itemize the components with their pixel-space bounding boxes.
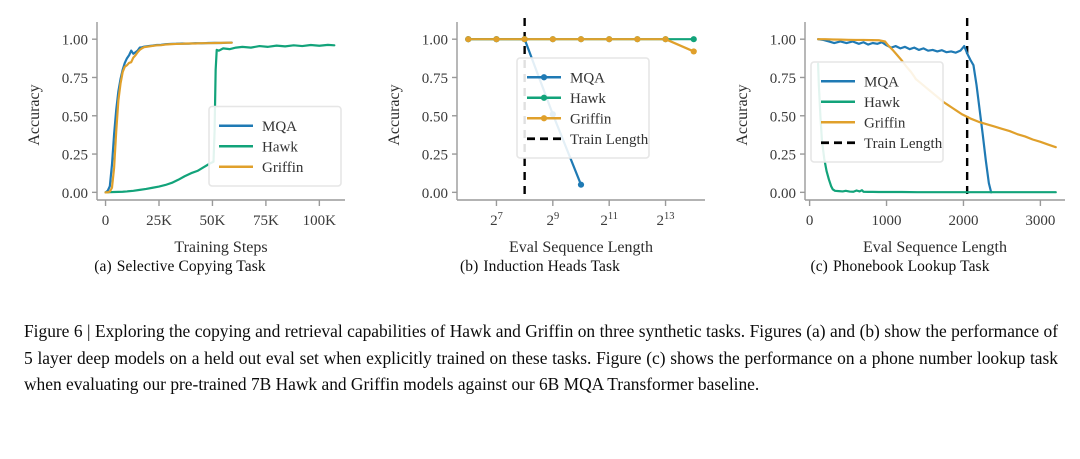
x-tick-label: 50K (200, 213, 226, 229)
legend: MQAHawkGriffinTrain Length (811, 62, 943, 162)
y-tick-label: 0.00 (422, 186, 448, 202)
subcaption-c-label: (c) (810, 258, 828, 275)
y-tick-label: 0.00 (62, 186, 88, 202)
legend-label-hawk: Hawk (262, 139, 298, 155)
y-tick-label: 1.00 (62, 33, 88, 49)
x-tick-label: 1000 (872, 213, 902, 229)
x-axis-title: Eval Sequence Length (863, 239, 1007, 256)
x-tick-label: 213 (657, 211, 675, 229)
x-tick-label: 2000 (948, 213, 978, 229)
chart-c-canvas: 0.000.250.500.751.000100020003000Eval Se… (720, 0, 1080, 258)
legend-label-griffin: Griffin (864, 115, 906, 131)
x-tick-label: 100K (303, 213, 337, 229)
legend-marker-griffin (541, 115, 547, 121)
figure-number: Figure 6 (24, 321, 83, 341)
chart-b-canvas: 0.000.250.500.751.002729211213Eval Seque… (360, 0, 720, 258)
x-axis-title: Training Steps (174, 239, 267, 256)
y-axis-title: Accuracy (26, 84, 43, 145)
y-axis-title: Accuracy (734, 84, 751, 145)
panel-b-induction-heads: 0.000.250.500.751.002729211213Eval Seque… (360, 0, 720, 300)
x-tick-label: 29 (546, 211, 559, 229)
legend-marker-mqa (541, 74, 547, 80)
series-marker-mqa (578, 182, 584, 188)
legend-label-mqa: MQA (262, 119, 297, 135)
y-tick-label: 1.00 (770, 33, 796, 49)
y-tick-label: 0.75 (62, 71, 88, 87)
y-tick-label: 1.00 (422, 33, 448, 49)
series-marker-griffin (522, 36, 528, 42)
x-tick-label: 27 (490, 211, 503, 229)
panel-c-phonebook-lookup: 0.000.250.500.751.000100020003000Eval Se… (720, 0, 1080, 300)
y-tick-label: 0.25 (62, 148, 88, 164)
x-tick-label: 3000 (1025, 213, 1055, 229)
y-tick-label: 0.75 (770, 71, 796, 87)
series-marker-griffin (662, 36, 668, 42)
legend-label-mqa: MQA (570, 70, 605, 86)
y-tick-label: 0.50 (422, 109, 448, 125)
legend-label-hawk: Hawk (570, 91, 606, 107)
subcaption-a: (a)Selective Copying Task (0, 258, 360, 276)
legend-label-mqa: MQA (864, 74, 899, 90)
series-marker-griffin (634, 36, 640, 42)
series-marker-griffin (691, 48, 697, 54)
legend: MQAHawkGriffin (209, 107, 341, 187)
chart-induction-heads: 0.000.250.500.751.002729211213Eval Seque… (360, 0, 720, 258)
y-axis-title: Accuracy (386, 84, 403, 145)
x-axis-title: Eval Sequence Length (509, 239, 653, 256)
subcaption-a-label: (a) (94, 258, 112, 275)
y-tick-label: 0.50 (770, 109, 796, 125)
legend-marker-hawk (541, 95, 547, 101)
legend-label-griffin: Griffin (262, 160, 304, 176)
legend-label-griffin: Griffin (570, 111, 612, 127)
chart-selective-copying: 0.000.250.500.751.00025K50K75K100KTraini… (0, 0, 360, 258)
series-marker-griffin (465, 36, 471, 42)
legend-label-train-length: Train Length (864, 136, 943, 152)
figure-caption-separator: | (87, 321, 90, 341)
y-tick-label: 0.00 (770, 186, 796, 202)
series-marker-griffin (550, 36, 556, 42)
figure-caption-text: Exploring the copying and retrieval capa… (24, 321, 1058, 394)
chart-phonebook-lookup: 0.000.250.500.751.000100020003000Eval Se… (720, 0, 1080, 258)
subcaption-b-label: (b) (460, 258, 478, 275)
subcaption-b: (b)Induction Heads Task (360, 258, 720, 276)
legend-label-hawk: Hawk (864, 95, 900, 111)
series-marker-griffin (493, 36, 499, 42)
subcaption-b-text: Induction Heads Task (483, 258, 620, 275)
subcaption-a-text: Selective Copying Task (117, 258, 266, 275)
series-marker-griffin (578, 36, 584, 42)
figure-caption: Figure 6 | Exploring the copying and ret… (24, 318, 1058, 398)
series-marker-hawk (691, 36, 697, 42)
series-marker-griffin (606, 36, 612, 42)
x-tick-label: 211 (600, 211, 618, 229)
x-tick-label: 0 (102, 213, 110, 229)
figure-6: 0.000.250.500.751.00025K50K75K100KTraini… (0, 0, 1080, 459)
y-tick-label: 0.75 (422, 71, 448, 87)
x-tick-label: 75K (253, 213, 279, 229)
legend: MQAHawkGriffinTrain Length (517, 58, 649, 158)
y-tick-label: 0.25 (422, 148, 448, 164)
x-tick-label: 0 (806, 213, 814, 229)
subcaption-c-text: Phonebook Lookup Task (833, 258, 990, 275)
x-tick-label: 25K (146, 213, 172, 229)
y-tick-label: 0.50 (62, 109, 88, 125)
panel-row: 0.000.250.500.751.00025K50K75K100KTraini… (0, 0, 1080, 300)
legend-label-train-length: Train Length (570, 132, 649, 148)
panel-a-selective-copying: 0.000.250.500.751.00025K50K75K100KTraini… (0, 0, 360, 300)
y-tick-label: 0.25 (770, 148, 796, 164)
chart-a-canvas: 0.000.250.500.751.00025K50K75K100KTraini… (0, 0, 360, 258)
subcaption-c: (c)Phonebook Lookup Task (720, 258, 1080, 276)
